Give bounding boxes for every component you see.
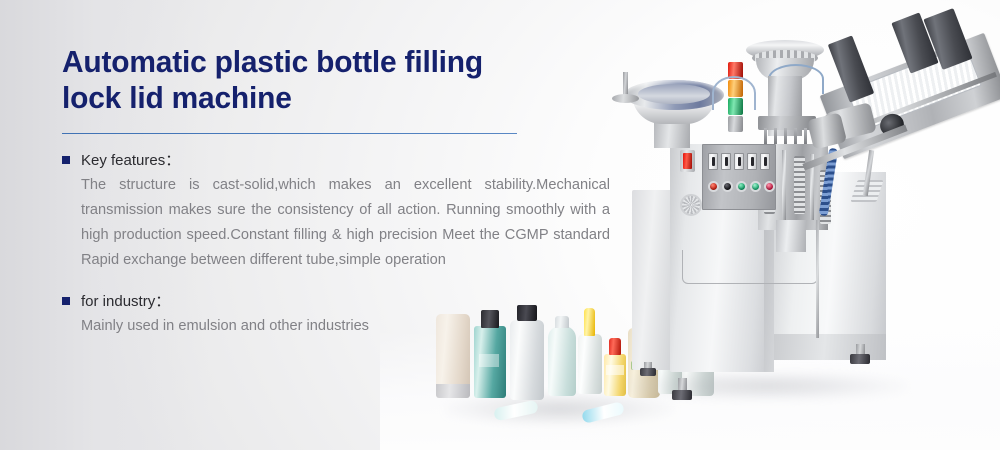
square-bullet-icon: [62, 297, 70, 305]
stack-light-base: [728, 116, 743, 132]
filling-nozzle: [804, 128, 807, 144]
control-panel[interactable]: [702, 144, 776, 210]
teal-bottle: [474, 326, 506, 398]
square-bullet-icon: [62, 156, 70, 164]
bullet-heading-label: for industry：: [81, 292, 170, 311]
product-banner: Automatic plastic bottle filling lock li…: [0, 0, 1000, 450]
feature-section-key-features: Key features： The structure is cast-soli…: [62, 151, 610, 273]
page-title: Automatic plastic bottle filling lock li…: [62, 44, 591, 116]
beige-tube: [436, 314, 470, 398]
selector-switch[interactable]: [708, 153, 718, 170]
filling-machine-photo: [618, 4, 1000, 450]
frosted-bottle: [510, 320, 544, 400]
machine-shadow: [626, 372, 908, 400]
title-divider: [62, 133, 517, 134]
bullet-heading: Key features：: [62, 151, 610, 170]
cabinet-left-wing: [632, 190, 674, 370]
bowl-feeder-track: [638, 84, 710, 104]
selector-switch[interactable]: [760, 153, 770, 170]
filling-nozzle: [774, 128, 777, 144]
cooling-fan-grill: [680, 194, 702, 216]
red-power-switch[interactable]: [680, 150, 695, 172]
text-column: Automatic plastic bottle filling lock li…: [62, 44, 610, 339]
green-push-button[interactable]: [750, 181, 761, 192]
yellow-cap-bottle: [578, 334, 602, 394]
guard-wire: [682, 250, 818, 284]
round-frosted-bottle: [548, 326, 576, 396]
green-push-button[interactable]: [736, 181, 747, 192]
stack-light-foot: [612, 94, 639, 103]
selector-switch[interactable]: [734, 153, 744, 170]
filling-nozzle: [784, 128, 787, 144]
red-push-button[interactable]: [708, 181, 719, 192]
bullet-heading-label: Key features：: [81, 151, 180, 170]
selector-switch[interactable]: [747, 153, 757, 170]
discharge-chute: [776, 220, 806, 252]
black-push-button[interactable]: [722, 181, 733, 192]
air-hose: [712, 76, 756, 110]
selector-switch-row: [708, 153, 770, 170]
leveling-foot: [850, 354, 870, 364]
push-button-row: [708, 181, 775, 192]
leveling-foot: [672, 390, 692, 400]
feature-body-text: The structure is cast-solid,which makes …: [81, 173, 610, 273]
leveling-foot: [640, 368, 656, 376]
guard-post: [816, 220, 819, 338]
selector-switch[interactable]: [721, 153, 731, 170]
guide-rod: [782, 150, 786, 220]
pink-push-button[interactable]: [764, 181, 775, 192]
stack-light-pole: [623, 72, 628, 96]
filling-nozzle: [764, 128, 767, 144]
filling-nozzle: [794, 128, 797, 144]
